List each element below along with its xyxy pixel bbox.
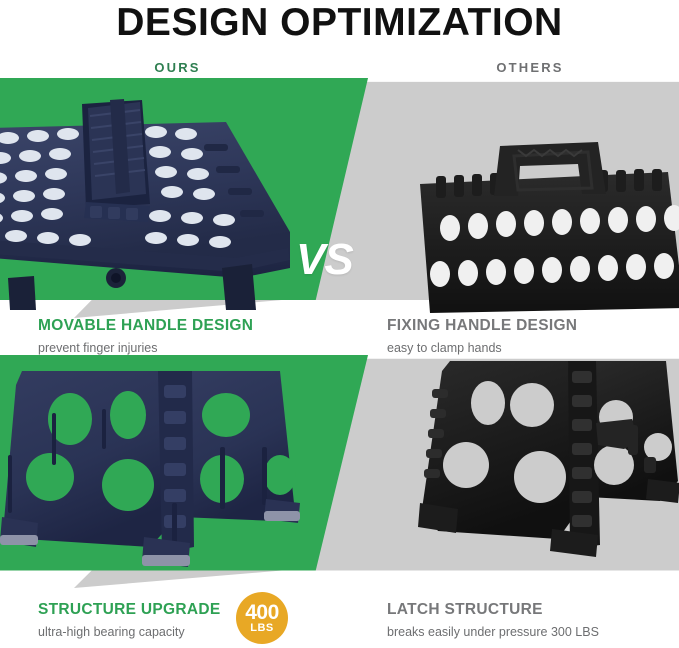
page-title: DESIGN OPTIMIZATION — [0, 1, 679, 45]
caption-ours-structure: STRUCTURE UPGRADE ultra-high bearing cap… — [38, 600, 221, 641]
column-header-others: OTHERS — [440, 60, 620, 75]
capacity-badge: 400 LBS — [236, 592, 288, 644]
vs-label-1: VS — [296, 238, 353, 282]
caption-others-handle: FIXING HANDLE DESIGN easy to clamp hands — [387, 316, 577, 357]
caption-ours-structure-subtext: ultra-high bearing capacity — [38, 623, 221, 641]
column-header-ours: OURS — [100, 60, 255, 75]
caption-ours-structure-heading: STRUCTURE UPGRADE — [38, 600, 221, 619]
caption-ours-handle: MOVABLE HANDLE DESIGN prevent finger inj… — [38, 316, 253, 357]
caption-others-structure-subtext: breaks easily under pressure 300 LBS — [387, 623, 599, 641]
comparison-panel-handle: VS — [0, 78, 679, 318]
caption-others-handle-heading: FIXING HANDLE DESIGN — [387, 316, 577, 335]
product-image-others-handle — [392, 138, 679, 313]
caption-others-structure: LATCH STRUCTURE breaks easily under pres… — [387, 600, 599, 641]
caption-others-handle-subtext: easy to clamp hands — [387, 339, 577, 357]
product-image-others-structure — [392, 361, 679, 561]
caption-ours-handle-heading: MOVABLE HANDLE DESIGN — [38, 316, 253, 335]
capacity-badge-number: 400 — [245, 603, 279, 622]
caption-ours-handle-subtext: prevent finger injuries — [38, 339, 253, 357]
comparison-panel-structure: VS — [0, 355, 679, 588]
product-image-ours-structure — [0, 371, 314, 576]
product-image-ours-handle — [0, 82, 320, 310]
design-optimization-infographic: DESIGN OPTIMIZATION OURS OTHERS — [0, 0, 679, 648]
capacity-badge-unit: LBS — [250, 622, 274, 634]
caption-others-structure-heading: LATCH STRUCTURE — [387, 600, 599, 619]
